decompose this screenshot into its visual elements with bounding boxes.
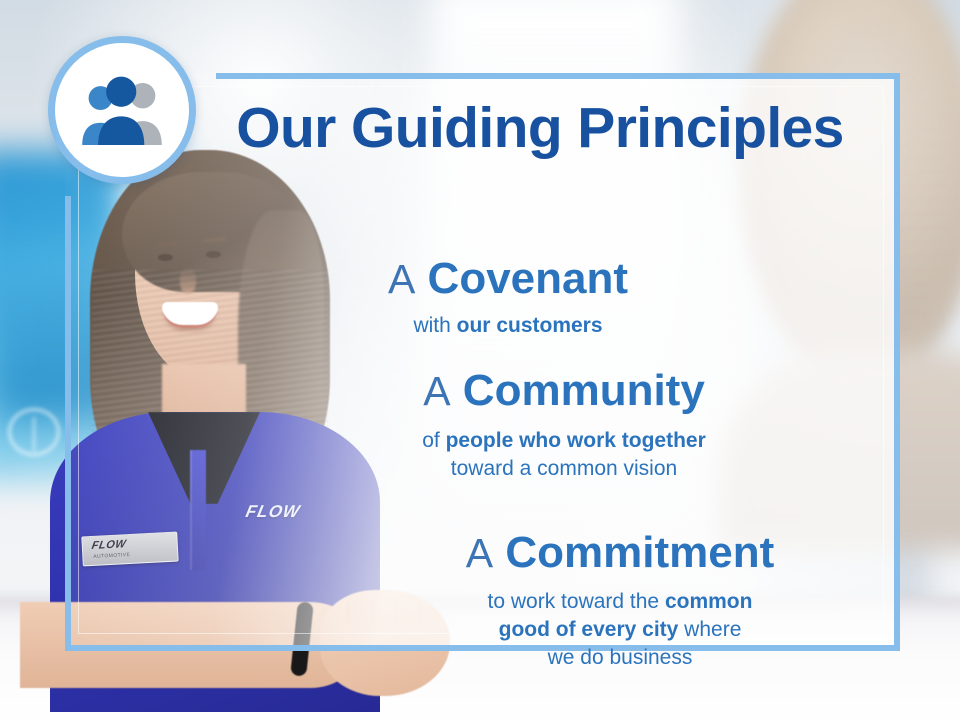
principle-commitment: A Commitment to work toward the commongo… (270, 530, 960, 672)
principle-heading: A Community (214, 368, 914, 414)
principle-subtext-line: to work toward the common (270, 588, 960, 616)
principle-keyword: Commitment (505, 528, 774, 577)
principle-community: A Community of people who work togethert… (214, 368, 914, 483)
principle-subtext: to work toward the commongood of every c… (270, 588, 960, 672)
principle-heading: A Covenant (158, 256, 858, 302)
principle-article: A (388, 256, 415, 302)
principle-article: A (466, 530, 493, 576)
principle-covenant: A Covenant with our customers (158, 256, 858, 340)
name-badge-subtext: AUTOMOTIVE (93, 552, 130, 560)
guiding-principles-graphic: FLOW FLOW AUTOMOTIVE (0, 0, 960, 720)
principle-subtext: of people who work togethertoward a comm… (214, 427, 914, 483)
principle-subtext-line: toward a common vision (214, 455, 914, 483)
page-title: Our Guiding Principles (200, 100, 880, 157)
employee-name-badge: FLOW AUTOMOTIVE (81, 532, 178, 567)
principle-subtext-line: we do business (270, 644, 960, 672)
principle-subtext-line: of people who work together (214, 427, 914, 455)
text-content: Our Guiding Principles A Covenant with o… (200, 78, 900, 638)
principle-subtext: with our customers (158, 312, 858, 340)
name-badge-logo: FLOW (91, 538, 127, 552)
principle-keyword: Covenant (428, 254, 628, 303)
principle-heading: A Commitment (270, 530, 960, 576)
principle-subtext-line: good of every city where (270, 616, 960, 644)
principle-keyword: Community (463, 366, 705, 415)
frame-border-left (65, 196, 71, 651)
principle-subtext-line: with our customers (158, 312, 858, 340)
group-of-people-badge (48, 36, 196, 184)
group-of-people-icon (74, 75, 170, 145)
principle-article: A (423, 368, 450, 414)
